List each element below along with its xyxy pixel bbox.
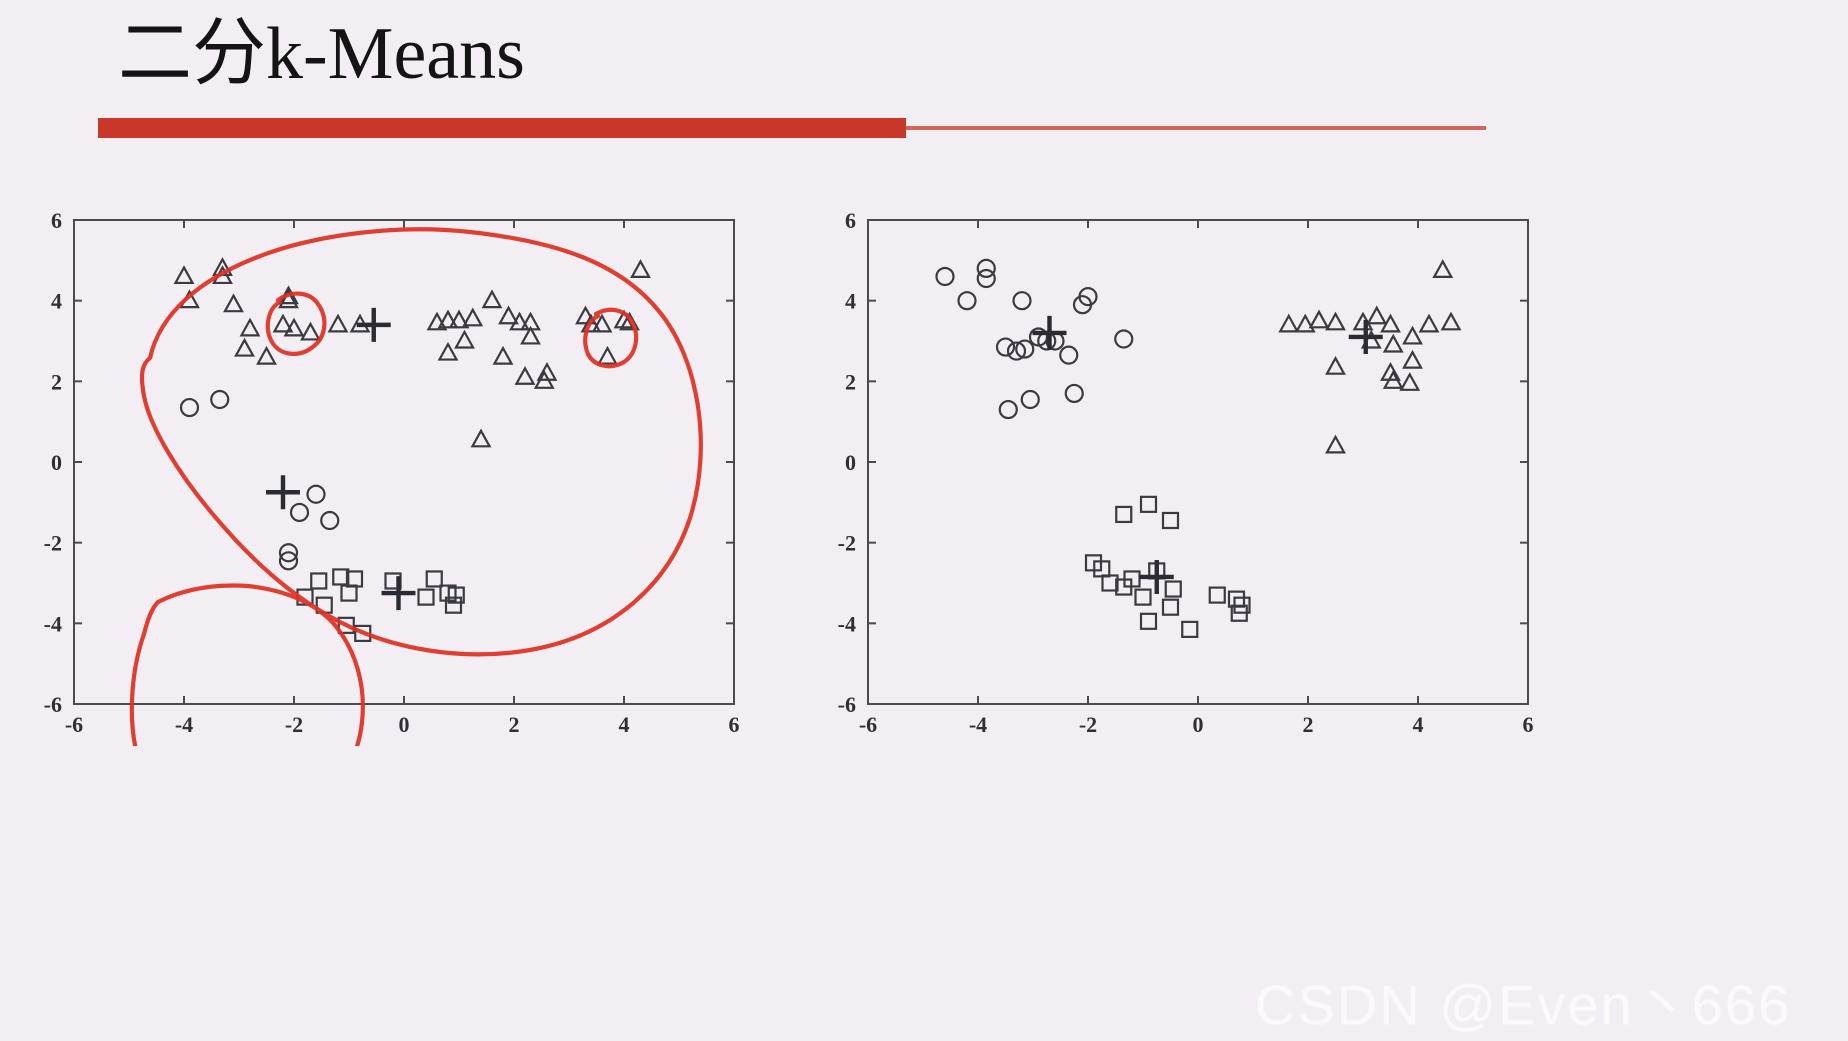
series-cluster-triangles <box>175 259 649 446</box>
marker-circle <box>1060 347 1077 364</box>
marker-circle <box>997 339 1014 356</box>
x-tick-label: -6 <box>65 712 83 737</box>
marker-circle <box>959 292 976 309</box>
x-tick-label: -6 <box>859 712 877 737</box>
x-tick-label: 6 <box>1523 712 1534 737</box>
marker-triangle <box>1385 336 1402 351</box>
marker-square <box>1141 497 1156 512</box>
series-centroids <box>1033 316 1383 594</box>
marker-square <box>1116 507 1131 522</box>
marker-circle <box>291 504 308 521</box>
marker-triangle <box>1327 358 1344 373</box>
marker-triangle <box>1404 352 1421 367</box>
marker-triangle <box>483 292 500 307</box>
y-tick-label: -2 <box>44 531 62 556</box>
marker-triangle <box>1434 261 1451 276</box>
marker-circle <box>978 270 995 287</box>
x-tick-label: 4 <box>1413 712 1424 737</box>
marker-triangle <box>175 267 192 282</box>
x-tick-label: -2 <box>285 712 303 737</box>
marker-centroid-plus <box>357 308 391 342</box>
marker-triangle <box>329 316 346 331</box>
series-cluster-squares <box>1086 497 1250 637</box>
page-title: 二分k-Means <box>118 12 525 97</box>
marker-triangle <box>456 332 473 347</box>
y-tick-label: 4 <box>51 289 62 314</box>
marker-triangle <box>1310 312 1327 327</box>
marker-triangle <box>1327 437 1344 452</box>
x-tick-label: 2 <box>1303 712 1314 737</box>
marker-centroid-plus <box>1349 320 1383 354</box>
x-tick-label: -4 <box>175 712 193 737</box>
csdn-watermark: CSDN @Even丶666 <box>1255 960 1791 1041</box>
marker-square <box>1136 590 1151 605</box>
marker-circle <box>1115 330 1132 347</box>
series-cluster-triangles <box>1280 261 1459 452</box>
y-tick-label: -6 <box>44 692 62 717</box>
marker-triangle <box>632 261 649 276</box>
marker-square <box>1210 588 1225 603</box>
scatter-plot-right: -6-4-20246-6-4-20246 <box>820 206 1542 746</box>
plot-canvas-right: -6-4-20246-6-4-20246 <box>820 206 1542 746</box>
marker-triangle <box>599 348 616 363</box>
x-tick-label: 0 <box>1193 712 1204 737</box>
y-tick-label: 2 <box>845 369 856 394</box>
marker-square <box>342 586 357 601</box>
marker-triangle <box>302 324 319 339</box>
marker-square <box>311 573 326 588</box>
y-tick-label: 2 <box>51 369 62 394</box>
title-accent-rule <box>98 118 1486 142</box>
marker-square <box>1163 513 1178 528</box>
marker-circle <box>211 391 228 408</box>
marker-triangle <box>494 348 511 363</box>
y-tick-label: -4 <box>44 611 62 636</box>
marker-circle <box>1014 292 1031 309</box>
marker-triangle <box>1280 316 1297 331</box>
marker-triangle <box>1368 308 1385 323</box>
y-tick-label: 4 <box>845 289 856 314</box>
marker-square <box>1163 600 1178 615</box>
accent-bar-thick <box>98 118 906 138</box>
x-tick-label: 0 <box>399 712 410 737</box>
marker-square <box>1182 622 1197 637</box>
marker-triangle <box>1404 328 1421 343</box>
lasso-circles <box>132 586 363 746</box>
y-tick-label: -6 <box>838 692 856 717</box>
marker-circle <box>978 260 995 277</box>
marker-circle <box>181 399 198 416</box>
marker-square <box>427 571 442 586</box>
marker-centroid-plus <box>382 576 416 610</box>
scatter-plot-left: -6-4-20246-6-4-20246 <box>26 206 748 746</box>
x-tick-label: -4 <box>969 712 987 737</box>
y-tick-label: -2 <box>838 531 856 556</box>
marker-triangle <box>1420 316 1437 331</box>
marker-square <box>1166 582 1181 597</box>
marker-square <box>1141 614 1156 629</box>
accent-bar-thin <box>906 126 1486 130</box>
y-tick-label: 0 <box>845 450 856 475</box>
series-cluster-circles <box>181 391 338 569</box>
marker-circle <box>308 486 325 503</box>
series-cluster-squares <box>298 569 464 640</box>
marker-triangle <box>285 320 302 335</box>
marker-triangle <box>1442 314 1459 329</box>
small-circle-b <box>585 310 636 366</box>
x-tick-label: 4 <box>619 712 630 737</box>
marker-triangle <box>225 296 242 311</box>
marker-circle <box>1022 391 1039 408</box>
marker-triangle <box>464 310 481 325</box>
marker-circle <box>937 268 954 285</box>
marker-circle <box>321 512 338 529</box>
marker-triangle <box>258 348 275 363</box>
marker-triangle <box>236 340 253 355</box>
x-tick-label: 2 <box>509 712 520 737</box>
marker-triangle <box>1297 316 1314 331</box>
y-tick-label: 6 <box>51 208 62 233</box>
marker-circle <box>1000 401 1017 418</box>
series-cluster-circles <box>937 260 1133 418</box>
x-tick-label: 6 <box>729 712 740 737</box>
y-tick-label: -4 <box>838 611 856 636</box>
marker-triangle <box>472 431 489 446</box>
marker-triangle <box>1401 374 1418 389</box>
x-tick-label: -2 <box>1079 712 1097 737</box>
marker-triangle <box>516 368 533 383</box>
marker-square <box>1229 592 1244 607</box>
y-tick-label: 6 <box>845 208 856 233</box>
marker-triangle <box>439 344 456 359</box>
marker-triangle <box>241 320 258 335</box>
marker-square <box>419 590 434 605</box>
marker-triangle <box>1327 314 1344 329</box>
freehand-annotations <box>132 229 701 746</box>
marker-circle <box>1066 385 1083 402</box>
y-tick-label: 0 <box>51 450 62 475</box>
plot-canvas-left: -6-4-20246-6-4-20246 <box>26 206 748 746</box>
